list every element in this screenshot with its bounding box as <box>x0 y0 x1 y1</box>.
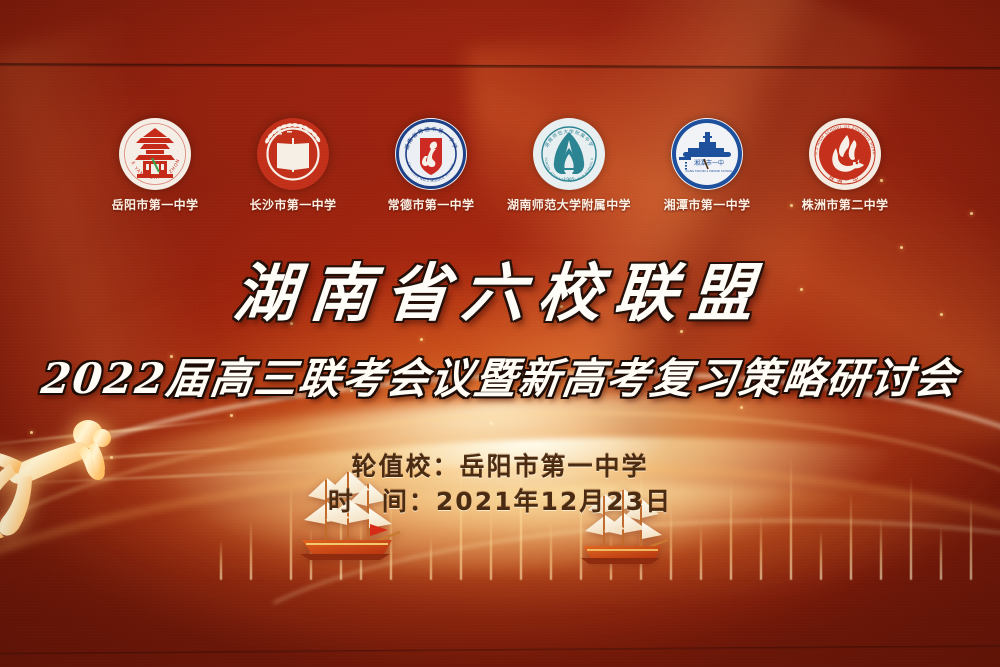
school-item-changsha-no1[interactable]: 长沙市第一中学 <box>237 118 349 211</box>
xiangtan-no1-building-emblem: 湘潭市一中 XIANG TAN NO.1 MIDDLE SCHOOL <box>671 118 743 190</box>
school-label: 长沙市第一中学 <box>250 199 337 211</box>
host-school-line: 轮值校：岳阳市第一中学 <box>0 450 1000 485</box>
banner-info-block: 轮值校：岳阳市第一中学 时 间：2021年12月23日 <box>0 450 1000 519</box>
led-banner-screen: YUE YANG SHI YI ZHONG 岳阳市第一中学 <box>0 0 1000 667</box>
school-item-xiangtan-no1[interactable]: 湘潭市一中 XIANG TAN NO.1 MIDDLE SCHOOL 湘潭市第一… <box>651 118 763 211</box>
changsha-no1-book-emblem <box>257 118 329 190</box>
event-date-line: 时 间：2021年12月23日 <box>0 485 1000 520</box>
banner-subtitle: 2022届高三联考会议暨新高考复习策略研讨会 <box>0 358 1000 400</box>
school-label: 常德市第一中学 <box>388 199 475 211</box>
school-item-hunan-normal-affiliated[interactable]: 湖南师范大学附属中学 THE HIGH SCHOOL ATTACHED TO H… <box>513 118 625 211</box>
school-item-yueyang-no1[interactable]: YUE YANG SHI YI ZHONG 岳阳市第一中学 <box>99 118 211 211</box>
emblem-name-en: XIANG TAN NO.1 MIDDLE SCHOOL <box>685 169 733 173</box>
emblem-name-cn: 湘潭市一中 <box>694 159 724 167</box>
background-right-glow <box>466 7 1000 473</box>
school-item-zhuzhou-no2[interactable]: NO.2 HIGH SCHOOL OF ZHUZHOU HUNAN 株洲二中 株… <box>789 118 901 211</box>
emblem-year: 1905 <box>563 177 574 183</box>
zhuzhou-no2-flame-emblem: NO.2 HIGH SCHOOL OF ZHUZHOU HUNAN 株洲二中 <box>809 118 881 190</box>
school-emblem-row: YUE YANG SHI YI ZHONG 岳阳市第一中学 <box>0 118 1000 236</box>
banner-main-title: 湖南省六校联盟 <box>0 262 1000 325</box>
school-label: 岳阳市第一中学 <box>112 199 199 211</box>
yueyang-no1-pagoda-emblem: YUE YANG SHI YI ZHONG <box>119 118 191 190</box>
school-item-changde-no1[interactable]: 湖南省常德市第一中学 CHANGDE NO.1 MIDDLE SCHOOL 常德… <box>375 118 487 211</box>
hunan-normal-affiliated-tree-emblem: 湖南师范大学附属中学 THE HIGH SCHOOL ATTACHED TO H… <box>533 118 605 190</box>
changde-no1-shield-emblem: 湖南省常德市第一中学 CHANGDE NO.1 MIDDLE SCHOOL <box>395 118 467 190</box>
school-label: 湖南师范大学附属中学 <box>507 199 631 211</box>
school-label: 株洲市第二中学 <box>802 199 889 211</box>
school-label: 湘潭市第一中学 <box>664 199 751 211</box>
